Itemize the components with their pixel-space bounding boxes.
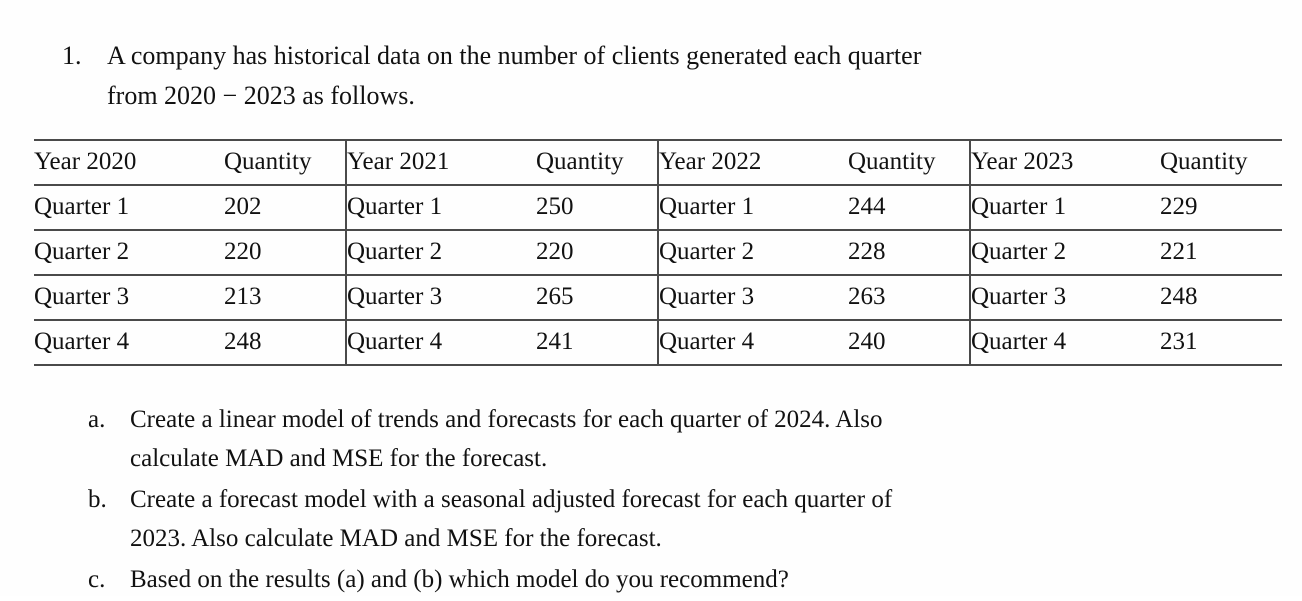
cell-2021-quarter-label: Quarter 1 [346,185,536,230]
cell-2023-quarter-label: Quarter 4 [970,320,1160,365]
cell-2023-quantity: 248 [1160,275,1282,320]
question-marker: 1. [62,36,107,76]
cell-2021-quarter-label: Quarter 2 [346,230,536,275]
header-year-2023: Year 2023 [970,140,1160,185]
cell-2022-quarter-label: Quarter 3 [658,275,848,320]
subquestion-c-line-1: Based on the results (a) and (b) which m… [130,566,789,593]
table-row: Quarter 2 220 Quarter 2 220 Quarter 2 22… [34,230,1282,275]
subquestion-b-line-1: Create a forecast model with a seasonal … [130,486,892,513]
cell-2022-quantity: 244 [848,185,970,230]
cell-2023-quarter-label: Quarter 3 [970,275,1160,320]
cell-2021-quantity: 220 [536,230,658,275]
cell-2020-quantity: 213 [224,275,346,320]
cell-2021-quantity: 250 [536,185,658,230]
cell-2020-quantity: 220 [224,230,346,275]
cell-2021-quantity: 265 [536,275,658,320]
document-page: 1. A company has historical data on the … [0,0,1302,596]
cell-2023-quantity: 231 [1160,320,1282,365]
cell-2022-quarter-label: Quarter 1 [658,185,848,230]
question-item-1: 1. A company has historical data on the … [62,36,1202,116]
cell-2022-quantity: 240 [848,320,970,365]
table-header-row: Year 2020 Quantity Year 2021 Quantity Ye… [34,140,1282,185]
question-line-2: from 2020 − 2023 as follows. [107,76,1202,116]
subquestion-text-b: Create a forecast model with a seasonal … [130,480,1193,558]
subquestion-marker-b: b. [88,480,130,519]
cell-2020-quarter-label: Quarter 3 [34,275,224,320]
cell-2020-quantity: 248 [224,320,346,365]
subquestion-list: a. Create a linear model of trends and f… [88,400,1193,601]
cell-2022-quarter-label: Quarter 4 [658,320,848,365]
header-quantity-2022: Quantity [848,140,970,185]
cell-2021-quantity: 241 [536,320,658,365]
cell-2022-quantity: 228 [848,230,970,275]
cell-2020-quantity: 202 [224,185,346,230]
cell-2023-quarter-label: Quarter 1 [970,185,1160,230]
subquestion-text-c: Based on the results (a) and (b) which m… [130,560,1193,599]
question-text: A company has historical data on the num… [107,36,1202,116]
header-year-2020: Year 2020 [34,140,224,185]
cell-2021-quarter-label: Quarter 4 [346,320,536,365]
header-year-2021: Year 2021 [346,140,536,185]
quarterly-data-table-wrapper: Year 2020 Quantity Year 2021 Quantity Ye… [34,139,1282,366]
subquestion-marker-a: a. [88,400,130,439]
table-row: Quarter 3 213 Quarter 3 265 Quarter 3 26… [34,275,1282,320]
cell-2023-quantity: 229 [1160,185,1282,230]
cell-2021-quarter-label: Quarter 3 [346,275,536,320]
cell-2022-quantity: 263 [848,275,970,320]
subquestion-marker-c: c. [88,560,130,599]
header-quantity-2021: Quantity [536,140,658,185]
subquestion-b-line-2: 2023. Also calculate MAD and MSE for the… [130,519,1193,558]
header-quantity-2023: Quantity [1160,140,1282,185]
subquestion-item-b: b. Create a forecast model with a season… [88,480,1193,558]
header-quantity-2020: Quantity [224,140,346,185]
cell-2023-quarter-label: Quarter 2 [970,230,1160,275]
subquestion-a-line-1: Create a linear model of trends and fore… [130,406,883,433]
subquestion-item-a: a. Create a linear model of trends and f… [88,400,1193,478]
cell-2020-quarter-label: Quarter 2 [34,230,224,275]
cell-2020-quarter-label: Quarter 1 [34,185,224,230]
cell-2022-quarter-label: Quarter 2 [658,230,848,275]
table-row: Quarter 1 202 Quarter 1 250 Quarter 1 24… [34,185,1282,230]
subquestion-text-a: Create a linear model of trends and fore… [130,400,1193,478]
cell-2023-quantity: 221 [1160,230,1282,275]
question-line-1: A company has historical data on the num… [107,41,921,70]
quarterly-data-table: Year 2020 Quantity Year 2021 Quantity Ye… [34,139,1282,366]
subquestion-item-c: c. Based on the results (a) and (b) whic… [88,560,1193,599]
cell-2020-quarter-label: Quarter 4 [34,320,224,365]
header-year-2022: Year 2022 [658,140,848,185]
table-row: Quarter 4 248 Quarter 4 241 Quarter 4 24… [34,320,1282,365]
subquestion-a-line-2: calculate MAD and MSE for the forecast. [130,439,1193,478]
